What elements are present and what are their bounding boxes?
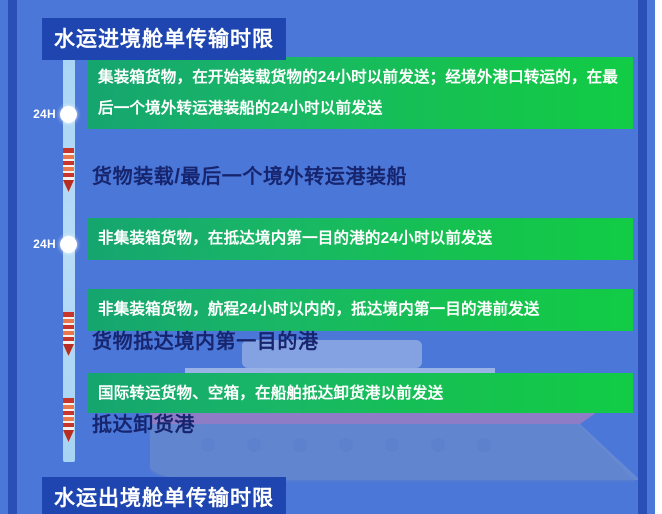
milestone-cargo-loading: 货物装载/最后一个境外转运港装船 [92,160,407,189]
ship-porthole [247,438,261,452]
frame-pad-left [0,0,8,514]
ship-marker-icon-2 [60,310,77,358]
ship-marker-icon-3 [60,396,77,444]
ship-hull-shade [150,424,636,482]
timeline-node-1 [60,106,77,123]
milestone-arrive-first-port: 货物抵达境内第一目的港 [92,325,319,354]
ship-marker-icon-1 [60,146,77,194]
ship-porthole [293,438,307,452]
frame-strip-left [8,0,17,514]
band-transit-empty: 国际转运货物、空箱，在船舶抵达卸货港以前发送 [88,373,633,413]
timeline-node-2 [60,236,77,253]
band-container-cargo: 集装箱货物，在开始装载货物的24小时以前发送；经境外港口转运的，在最后一个境外转… [88,57,633,129]
banner-outbound-title: 水运出境舱单传输时限 [42,477,286,514]
frame-white-margin [655,0,662,514]
banner-inbound-title: 水运进境舱单传输时限 [42,18,286,60]
ship-porthole [201,438,215,452]
frame-strip-right [638,0,647,514]
ship-porthole [339,438,353,452]
ship-porthole [431,438,445,452]
band-noncontainer-24h: 非集装箱货物，在抵达境内第一目的港的24小时以前发送 [88,218,633,260]
milestone-arrive-discharge-port: 抵达卸货港 [92,408,195,437]
ship-porthole [385,438,399,452]
timeline-node-1-label: 24H [22,107,56,121]
ship-porthole [477,438,491,452]
timeline-node-2-label: 24H [22,237,56,251]
frame-pad-right [647,0,655,514]
infographic-poster: 24H 24H 集装箱货物，在开始装载货物的24小时以前发送；经境外港口转运的，… [0,0,662,514]
